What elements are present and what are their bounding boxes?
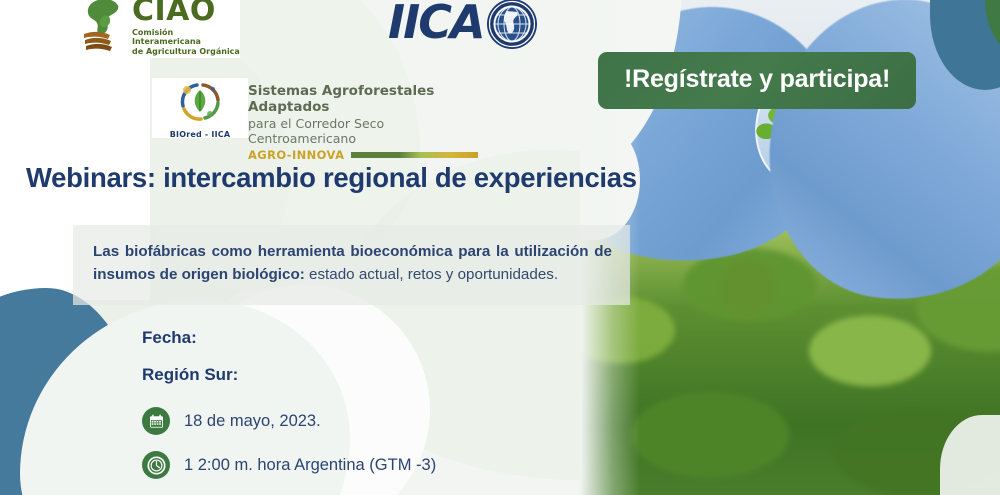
biored-label: BIOred - IICA [152, 130, 248, 139]
iica-logo: IICA [388, 0, 558, 54]
webinar-promo-banner: CIAO Comisión Interamericana de Agricult… [0, 0, 1000, 495]
ciao-subtitle-line2: de Agricultura Orgánica [132, 47, 240, 56]
agro-innova-line3-row: AGRO-INNOVA [248, 148, 478, 162]
ciao-subtitle-line1: Comisión Interamericana [132, 28, 240, 47]
register-button[interactable]: !Regístrate y participa! [598, 52, 916, 109]
agro-innova-line3: AGRO-INNOVA [248, 148, 344, 162]
ciao-logo: CIAO Comisión Interamericana de Agricult… [70, 0, 240, 58]
agro-innova-logo: Sistemas Agroforestales Adaptados para e… [248, 84, 478, 162]
americas-map-icon [78, 0, 134, 54]
biored-leaf-circle-icon [175, 78, 225, 124]
schedule-row-date: 18 de mayo, 2023. [142, 407, 436, 435]
agro-innova-line2: para el Corredor Seco Centroamericano [248, 116, 478, 146]
description-text: Las biofábricas como herramienta bioecon… [93, 241, 612, 287]
region-label: Región Sur: [142, 365, 436, 385]
agro-innova-gradient-bar [351, 152, 478, 158]
description-regular: estado actual, retos y oportunidades. [305, 266, 558, 283]
schedule-block: Fecha: Región Sur: [142, 328, 436, 495]
schedule-time-value: 1 2:00 m. hora Argentina (GTM -3) [184, 456, 436, 475]
biored-logo: BIOred - IICA [152, 78, 248, 138]
clock-icon [142, 451, 170, 479]
schedule-date-value: 18 de mayo, 2023. [184, 412, 321, 431]
calendar-icon [142, 407, 170, 435]
page-title: Webinars: intercambio regional de experi… [26, 162, 637, 194]
ciao-text-block: CIAO Comisión Interamericana de Agricult… [132, 0, 240, 56]
ciao-acronym: CIAO [132, 0, 240, 26]
description-box: Las biofábricas como herramienta bioecon… [73, 225, 630, 305]
iica-globe-seal-icon [486, 0, 538, 50]
iica-acronym: IICA [388, 0, 484, 45]
date-label: Fecha: [142, 328, 436, 348]
agro-innova-line1: Sistemas Agroforestales Adaptados [248, 84, 478, 116]
schedule-row-time: 1 2:00 m. hora Argentina (GTM -3) [142, 451, 436, 479]
